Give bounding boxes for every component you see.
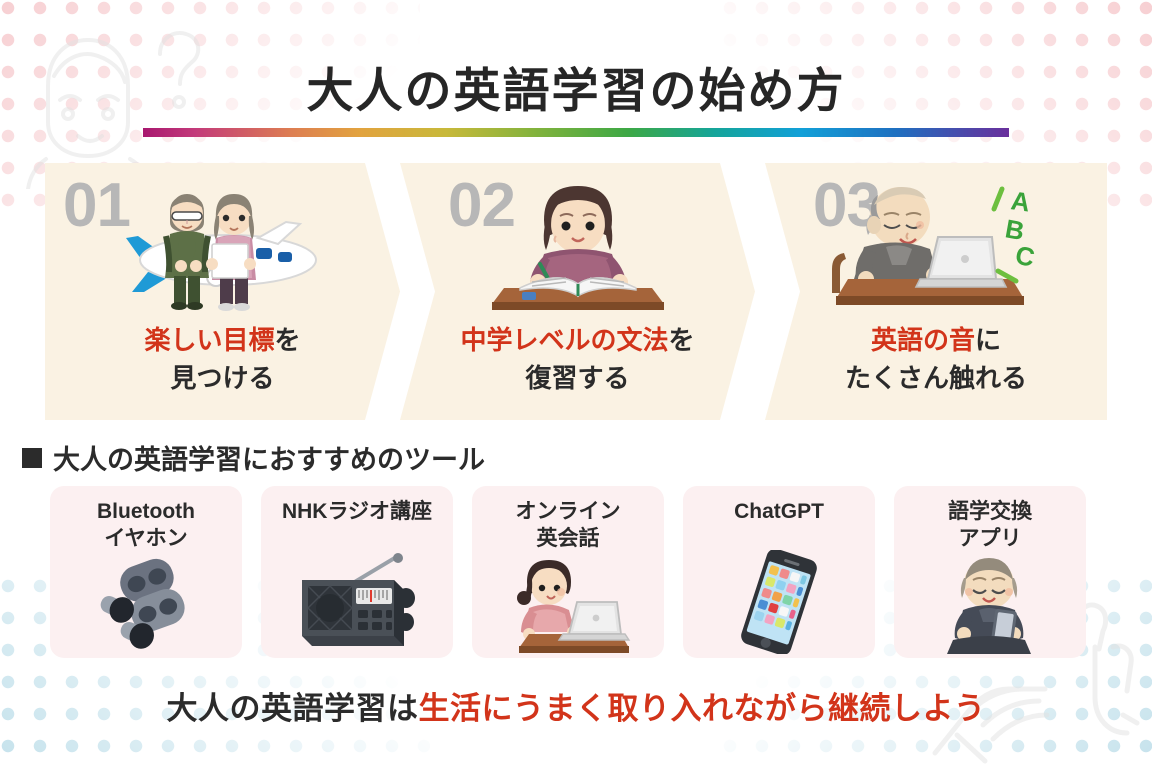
wireless-earbuds-icon <box>50 550 242 654</box>
tool-label: オンライン 英会話 <box>472 498 664 553</box>
page-title: 大人の英語学習の始め方 <box>0 52 1152 121</box>
step-illustration-man-laptop-abc: A B C <box>765 171 1107 321</box>
step-caption-line2: 見つける <box>170 363 274 393</box>
step-caption-highlight: 楽しい目標 <box>144 325 274 355</box>
radio-icon <box>261 550 453 654</box>
step-caption-rest: を <box>275 325 301 355</box>
footer-message: 大人の英語学習は生活にうまく取り入れながら継続しよう <box>0 683 1152 728</box>
step-caption-line2: たくさん触れる <box>845 363 1027 393</box>
footer-highlight: 生活にうまく取り入れながら継続しよう <box>419 691 986 726</box>
tool-card-bluetooth-earphones[interactable]: Bluetooth イヤホン <box>50 486 242 658</box>
step-illustration-woman-textbook <box>400 171 755 321</box>
man-tablet-icon <box>894 550 1086 654</box>
svg-text:A: A <box>1009 185 1032 217</box>
steps-row: 01 <box>45 163 1107 420</box>
square-bullet-icon <box>22 448 42 468</box>
tools-section-heading-label: 大人の英語学習におすすめのツール <box>53 438 485 477</box>
tool-label-line2: イヤホン <box>104 527 187 550</box>
title-gradient-rule <box>143 128 1009 137</box>
tool-card-online-english-conversation[interactable]: オンライン 英会話 <box>472 486 664 658</box>
step-card-03: 03 <box>765 163 1107 420</box>
step-caption: 英語の音に たくさん触れる <box>765 321 1107 398</box>
tool-label-line1: 語学交換 <box>948 500 1032 523</box>
tools-row: Bluetooth イヤホン <box>50 486 1106 658</box>
infographic-page: 大人の英語学習の始め方 01 <box>0 0 1152 768</box>
tool-label-line2: アプリ <box>959 527 1022 550</box>
tool-label-line1: オンライン <box>516 500 621 523</box>
tool-label-line1: ChatGPT <box>734 500 824 523</box>
tool-card-chatgpt[interactable]: ChatGPT <box>683 486 875 658</box>
tool-label-line1: NHKラジオ講座 <box>282 500 432 523</box>
tools-section-heading: 大人の英語学習におすすめのツール <box>22 438 485 477</box>
step-illustration-airplane-couple <box>45 171 400 321</box>
step-card-01: 01 <box>45 163 400 420</box>
step-caption: 楽しい目標を 見つける <box>45 321 400 398</box>
footer-lead: 大人の英語学習は <box>167 691 419 726</box>
tool-card-nhk-radio-course[interactable]: NHKラジオ講座 <box>261 486 453 658</box>
smartphone-apps-icon <box>683 550 875 654</box>
tool-label-line2: 英会話 <box>537 527 600 550</box>
tool-label: Bluetooth イヤホン <box>50 498 242 553</box>
step-caption-highlight: 中学レベルの文法 <box>460 325 668 355</box>
tool-label-line1: Bluetooth <box>97 500 195 523</box>
tool-label: ChatGPT <box>683 498 875 525</box>
step-card-02: 02 <box>400 163 755 420</box>
step-caption-rest: に <box>975 325 1001 355</box>
tool-label: NHKラジオ講座 <box>261 498 453 525</box>
step-caption: 中学レベルの文法を 復習する <box>400 321 755 398</box>
woman-laptop-icon <box>472 550 664 654</box>
step-caption-rest: を <box>669 325 695 355</box>
tool-card-language-exchange-app[interactable]: 語学交換 アプリ <box>894 486 1086 658</box>
tool-label: 語学交換 アプリ <box>894 498 1086 553</box>
step-caption-highlight: 英語の音 <box>871 325 975 355</box>
step-caption-line2: 復習する <box>525 363 629 393</box>
